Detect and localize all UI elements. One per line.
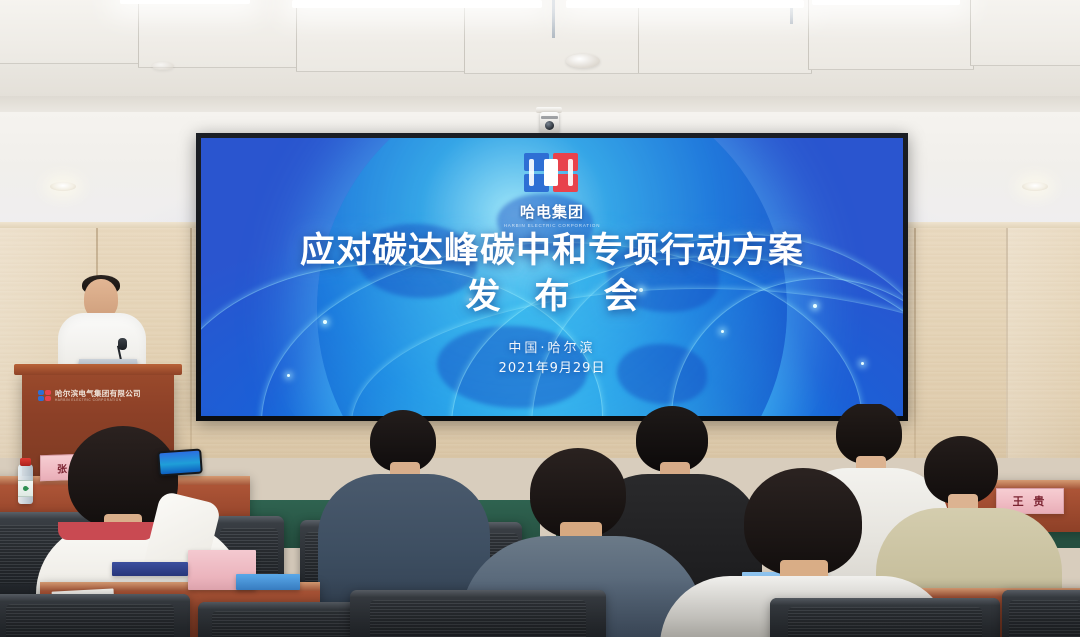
podium-sign: 哈尔滨电气集团有限公司 HARBIN ELECTRIC CORPORATION: [38, 386, 162, 406]
screen-title-line1: 应对碳达峰碳中和专项行动方案: [201, 222, 903, 273]
podium-sign-chinese: 哈尔滨电气集团有限公司: [55, 390, 141, 398]
document-folder: [112, 562, 188, 576]
chair: [350, 590, 606, 637]
logo-chinese-text: 哈电集团: [201, 201, 903, 222]
led-display-screen: 哈电集团 HARBIN ELECTRIC CORPORATION 应对碳达峰碳中…: [196, 133, 908, 421]
water-bottle: [18, 464, 33, 504]
podium-sign-english: HARBIN ELECTRIC CORPORATION: [55, 399, 141, 402]
chair: [1002, 590, 1080, 637]
audience-area: 张秀夫 王 贵: [0, 404, 1080, 637]
ceiling: [0, 0, 1080, 108]
screen-date: 2021年9月29日: [201, 357, 903, 376]
screen-location: 中国·哈尔滨: [201, 337, 903, 356]
podium-logo-icon: [38, 390, 52, 403]
downlight: [50, 182, 76, 191]
chair: [0, 594, 190, 637]
screen-surface: 哈电集团 HARBIN ELECTRIC CORPORATION 应对碳达峰碳中…: [201, 138, 903, 416]
screen-logo: 哈电集团 HARBIN ELECTRIC CORPORATION: [201, 153, 903, 228]
downlight: [1022, 182, 1048, 191]
he-block-logo-icon: [524, 153, 580, 193]
microphone-icon: [118, 338, 127, 350]
document-folder: [236, 574, 300, 590]
conference-hall-photo: 哈电集团 HARBIN ELECTRIC CORPORATION 应对碳达峰碳中…: [0, 0, 1080, 637]
smartphone: [157, 448, 203, 476]
chair: [770, 598, 1000, 637]
screen-title-line2: 发布会: [201, 268, 903, 319]
